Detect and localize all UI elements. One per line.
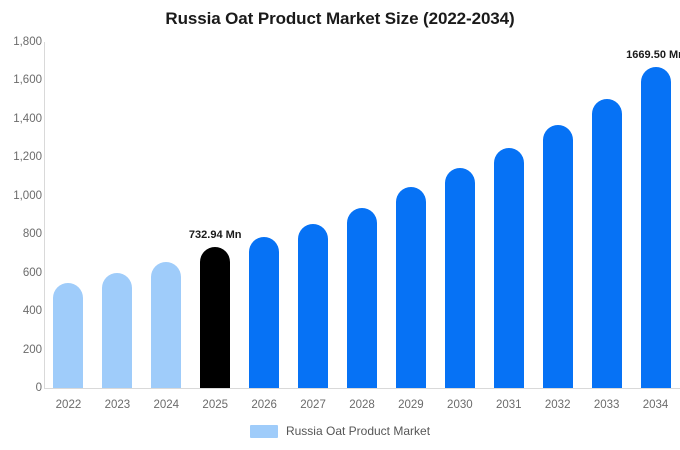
x-axis-tick-2022: 2022 — [56, 399, 82, 411]
legend-label-russia-oat-product-market: Russia Oat Product Market — [286, 424, 430, 438]
x-axis-tick-2026: 2026 — [251, 399, 277, 411]
bar-column — [44, 42, 93, 388]
bar-column — [484, 42, 533, 388]
y-axis-tick: 1,200 — [4, 151, 42, 163]
plot-area — [44, 42, 680, 388]
x-axis-line — [44, 388, 680, 389]
x-axis-tick-2032: 2032 — [545, 399, 571, 411]
bar-column — [93, 42, 142, 388]
bar-column — [191, 42, 240, 388]
chart-container: Russia Oat Product Market Size (2022-203… — [0, 0, 680, 450]
bar-2029[interactable] — [396, 187, 426, 388]
bar-2028[interactable] — [347, 208, 377, 388]
y-axis-tick: 400 — [4, 305, 42, 317]
x-axis-tick-2033: 2033 — [594, 399, 620, 411]
bar-2024[interactable] — [151, 262, 181, 388]
x-axis-tick-2027: 2027 — [300, 399, 326, 411]
bar-column — [533, 42, 582, 388]
y-axis-tick: 1,400 — [4, 113, 42, 125]
chart-legend: Russia Oat Product Market — [0, 424, 680, 438]
bar-2034[interactable] — [641, 67, 671, 388]
bar-column — [240, 42, 289, 388]
y-axis-tick: 800 — [4, 228, 42, 240]
bar-column — [582, 42, 631, 388]
y-axis-tick: 0 — [4, 382, 42, 394]
x-axis-tick-2023: 2023 — [105, 399, 131, 411]
bar-column — [435, 42, 484, 388]
bar-2022[interactable] — [53, 283, 83, 388]
y-axis-tick: 600 — [4, 267, 42, 279]
x-axis-tick-2030: 2030 — [447, 399, 473, 411]
bar-2032[interactable] — [543, 125, 573, 388]
bar-2031[interactable] — [494, 148, 524, 388]
bar-2026[interactable] — [249, 237, 279, 388]
legend-swatch-russia-oat-product-market — [250, 425, 278, 438]
value-label-2034: 1669.50 Mn — [626, 49, 680, 61]
y-axis-tick: 1,000 — [4, 190, 42, 202]
x-axis-tick-2031: 2031 — [496, 399, 522, 411]
x-axis-tick-2025: 2025 — [202, 399, 228, 411]
chart-title: Russia Oat Product Market Size (2022-203… — [0, 9, 680, 29]
bar-2033[interactable] — [592, 99, 622, 388]
bar-column — [631, 42, 680, 388]
bar-2030[interactable] — [445, 168, 475, 388]
x-axis-tick-2024: 2024 — [154, 399, 180, 411]
x-axis-tick-2028: 2028 — [349, 399, 375, 411]
bar-column — [338, 42, 387, 388]
x-axis-tick-2034: 2034 — [643, 399, 669, 411]
bar-2025[interactable] — [200, 247, 230, 388]
bar-column — [289, 42, 338, 388]
y-axis: 02004006008001,0001,2001,4001,6001,800 — [0, 0, 42, 450]
bar-2023[interactable] — [102, 273, 132, 388]
bar-2027[interactable] — [298, 224, 328, 388]
bar-column — [142, 42, 191, 388]
value-label-2025: 732.94 Mn — [189, 229, 242, 241]
y-axis-tick: 1,800 — [4, 36, 42, 48]
y-axis-tick: 200 — [4, 344, 42, 356]
bar-column — [386, 42, 435, 388]
y-axis-tick: 1,600 — [4, 74, 42, 86]
x-axis-tick-2029: 2029 — [398, 399, 424, 411]
